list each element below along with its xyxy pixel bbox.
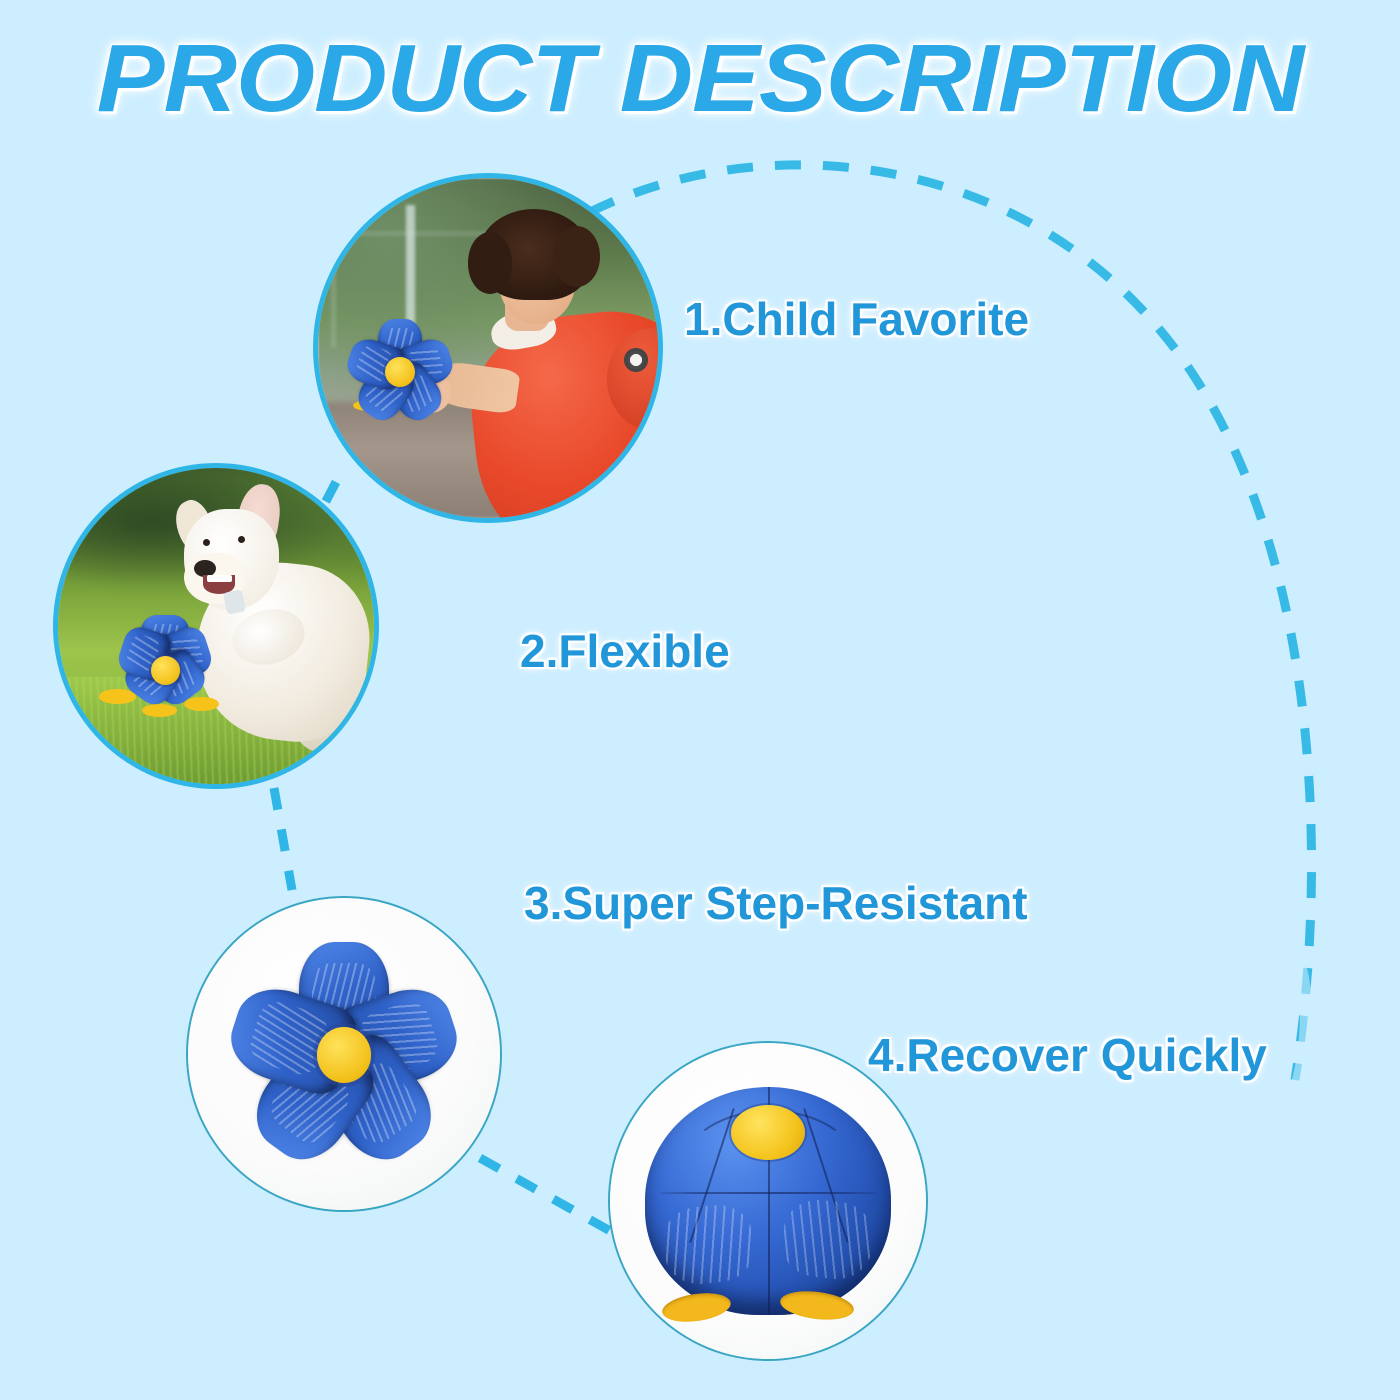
ball-center-cap: [731, 1105, 805, 1160]
feature-image-child-holding-flying-disc-ball-photo[interactable]: [318, 178, 658, 518]
feature-image-flat-disc-mode-photo[interactable]: [188, 898, 500, 1210]
disc-center-hub: [317, 1027, 372, 1083]
feature-label-1: 1.Child Favorite: [684, 292, 1029, 346]
feature-image-ball-mode-photo[interactable]: [610, 1043, 926, 1359]
child-hair-curl-right: [553, 226, 601, 287]
disc-center-hub: [151, 656, 180, 685]
flying-disc-toy: [93, 620, 238, 731]
feature-label-3: 3.Super Step-Resistant: [524, 876, 1028, 930]
dog-scene: [58, 468, 374, 784]
disc-yellow-edge: [184, 697, 219, 711]
disc-yellow-edge: [142, 704, 177, 717]
shirt-logo: [624, 348, 648, 372]
feature-label-4: 4.Recover Quickly: [868, 1028, 1267, 1082]
connector-c3-c4: [480, 1158, 612, 1232]
child-hair-curl-left: [468, 232, 512, 293]
feature-label-2: 2.Flexible: [520, 624, 730, 678]
infographic-canvas: PRODUCT DESCRIPTION: [0, 0, 1400, 1400]
flying-disc-toy: [342, 314, 458, 430]
dog-teeth: [207, 575, 232, 582]
flat-disc-product: [219, 926, 469, 1182]
disc-center-hub: [385, 357, 415, 387]
feature-image-dog-running-with-disc-photo[interactable]: [58, 468, 374, 784]
ball-mode-product: [645, 1087, 891, 1315]
dog-eye-right: [238, 536, 245, 543]
child-scene: [318, 178, 658, 518]
dog-nose: [194, 560, 216, 577]
connector-c2-c3: [274, 788, 292, 890]
